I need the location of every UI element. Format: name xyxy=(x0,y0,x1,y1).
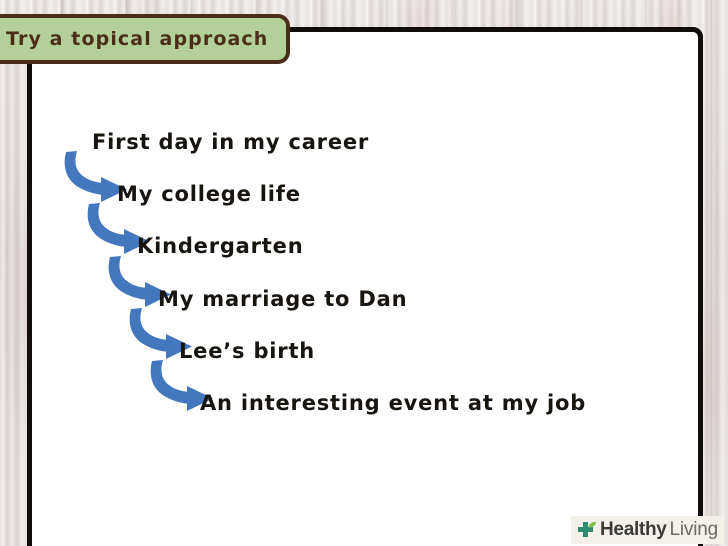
healthy-living-logo: Healthy Living xyxy=(571,516,724,544)
slide-canvas: First day in my careerMy college lifeKin… xyxy=(0,0,728,546)
banner-title: Try a topical approach xyxy=(6,28,268,50)
curved-arrow-icon xyxy=(65,151,127,202)
curved-arrow-icon xyxy=(88,203,150,254)
logo-word-living: Living xyxy=(670,519,718,541)
curved-arrow-icon xyxy=(151,360,213,411)
title-banner: Try a topical approach xyxy=(0,14,290,64)
arrow-group xyxy=(65,151,213,411)
logo-word-healthy: Healthy xyxy=(600,519,667,541)
curved-arrow-icon xyxy=(130,308,192,359)
arrow-layer xyxy=(0,0,728,546)
curved-arrow-icon xyxy=(109,256,171,307)
green-cross-leaf-icon xyxy=(575,519,597,541)
